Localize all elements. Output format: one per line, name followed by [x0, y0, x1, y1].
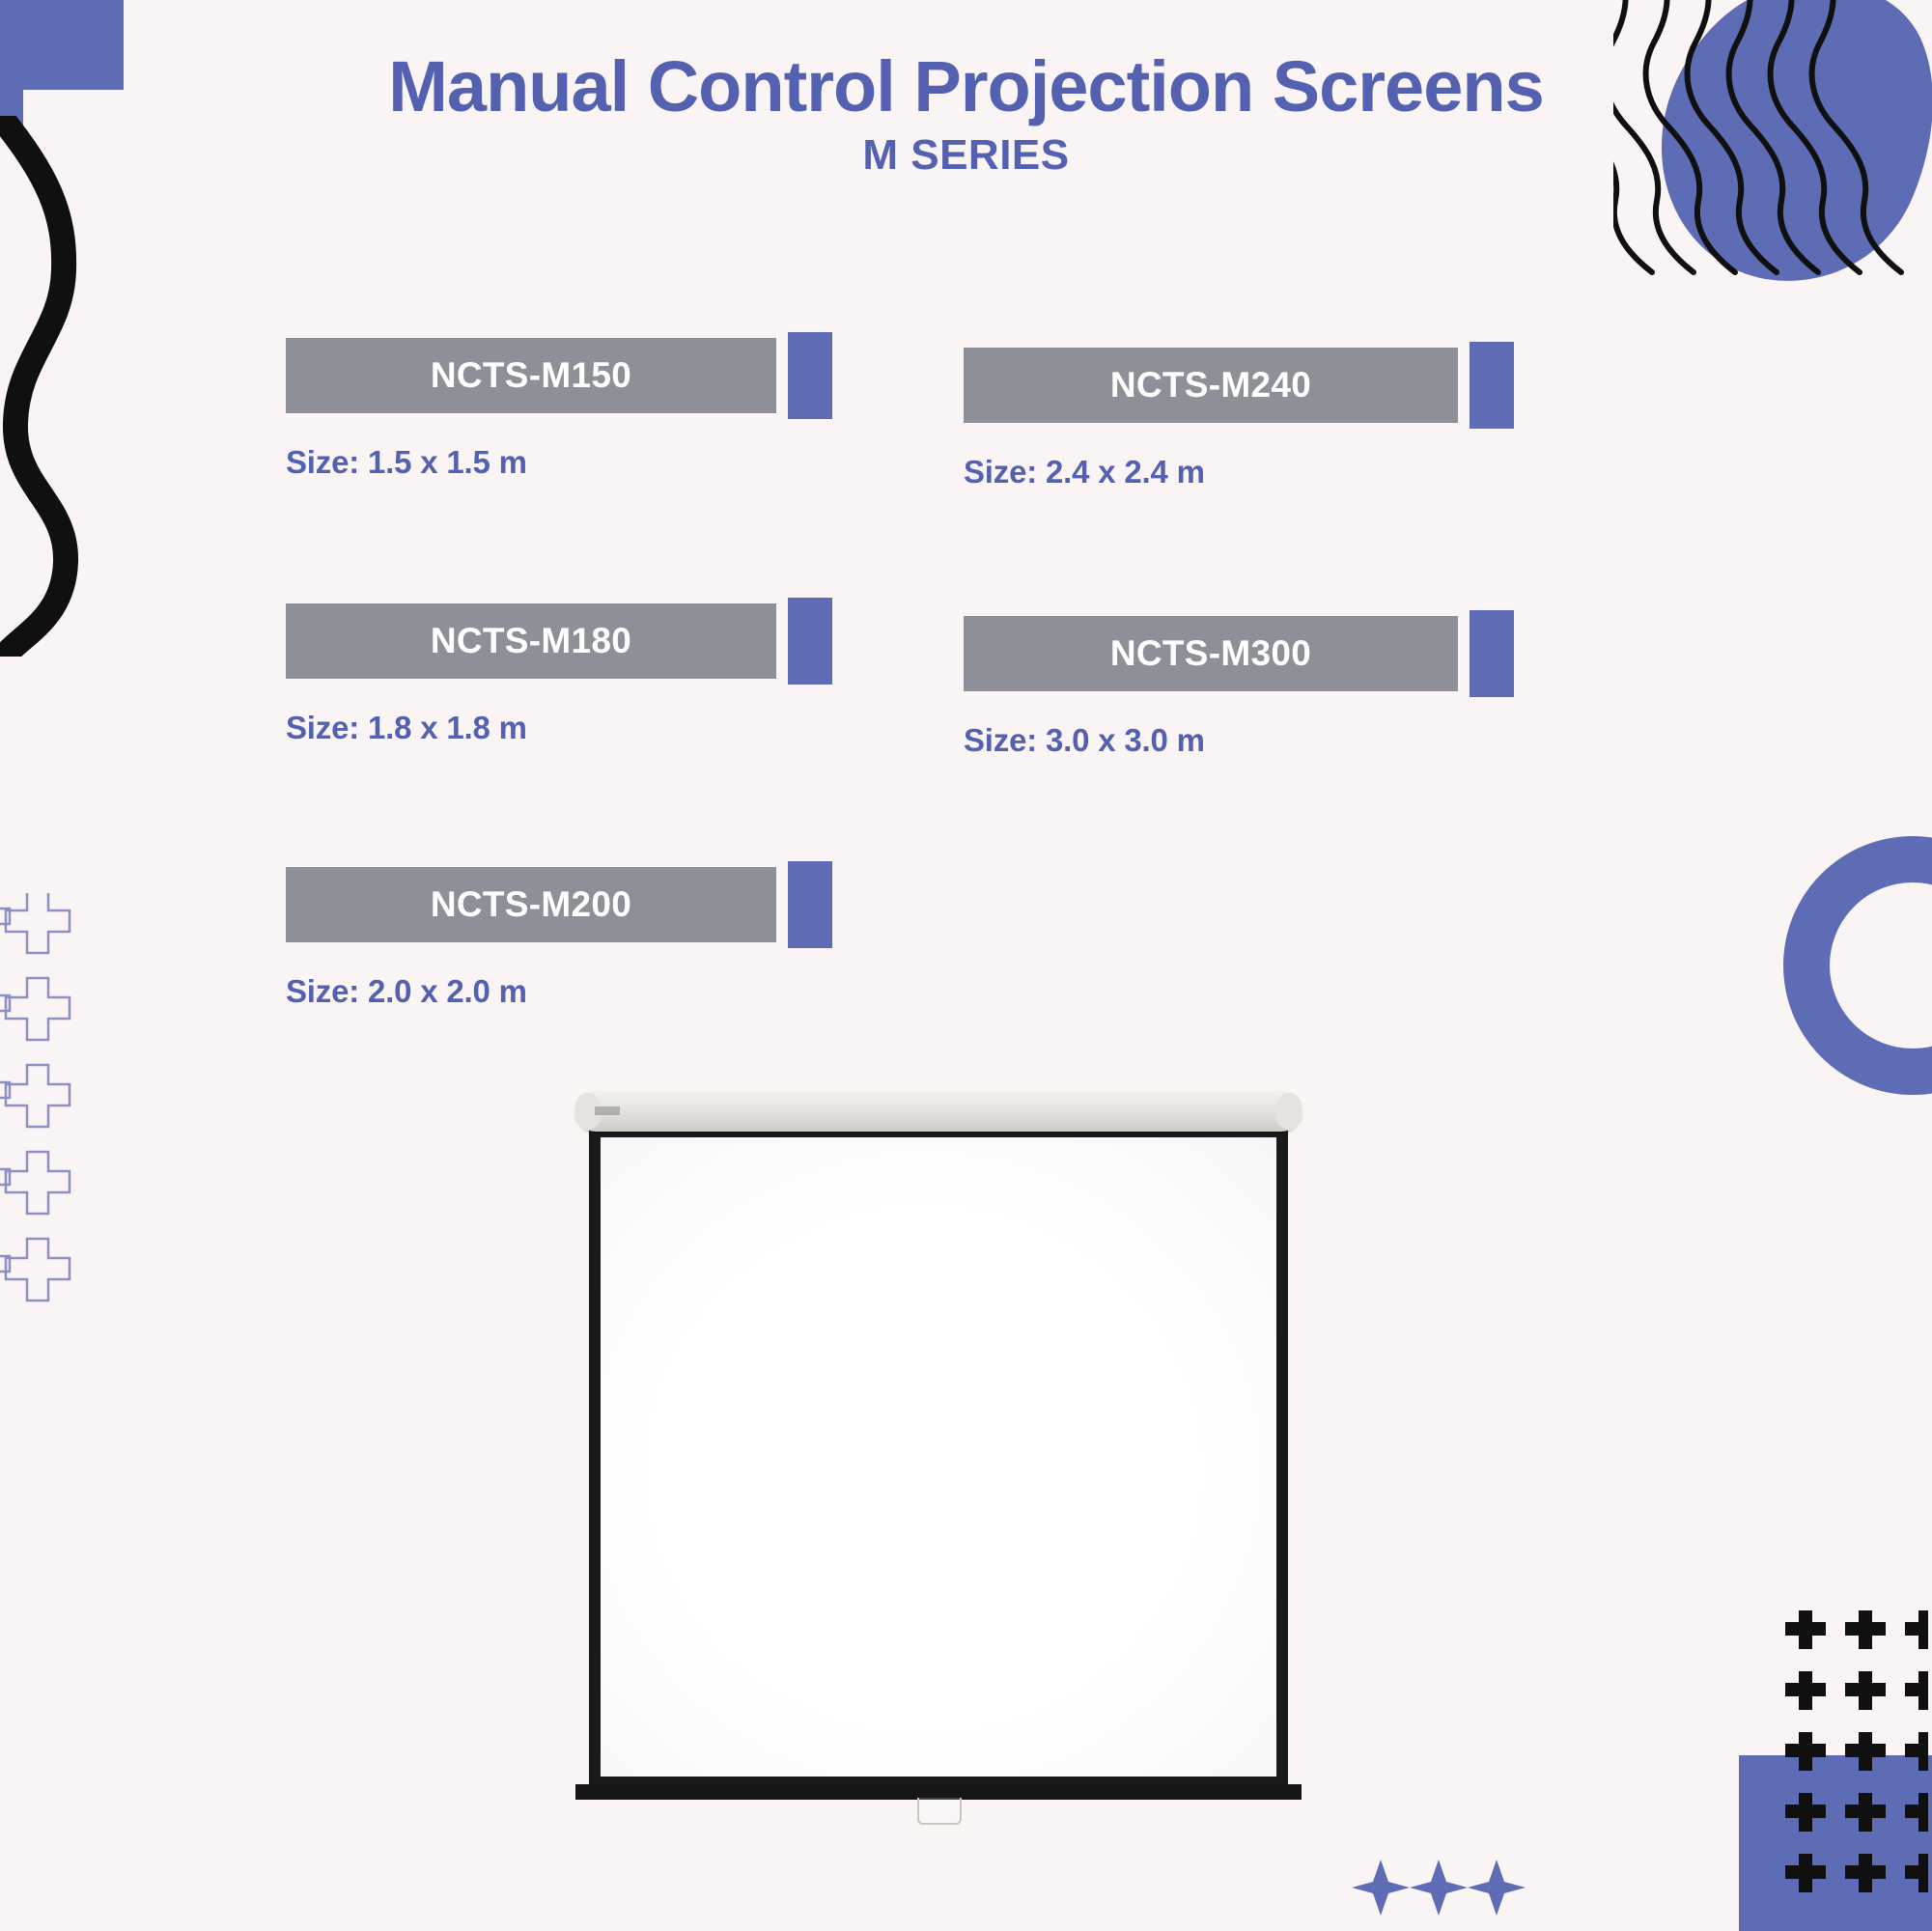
- product-item-ncts-m240[interactable]: NCTS-M240 Size: 2.4 x 2.4 m: [964, 348, 1514, 490]
- screen-surface: [601, 1137, 1276, 1777]
- product-code-label: NCTS-M200: [431, 884, 631, 925]
- product-size-label: Size: 3.0 x 3.0 m: [964, 722, 1514, 759]
- product-code-bar: NCTS-M150: [286, 338, 776, 413]
- product-code-bar: NCTS-M240: [964, 348, 1458, 423]
- product-accent-block: [1470, 610, 1514, 697]
- product-code-label: NCTS-M150: [431, 355, 631, 396]
- product-code-label: NCTS-M300: [1110, 633, 1311, 674]
- screen-casing: [575, 1091, 1302, 1132]
- product-accent-block: [788, 861, 832, 948]
- product-bar-row: NCTS-M240: [964, 348, 1514, 429]
- product-size-label: Size: 2.0 x 2.0 m: [286, 973, 832, 1010]
- product-accent-block: [1470, 342, 1514, 429]
- product-bar-row: NCTS-M300: [964, 616, 1514, 697]
- product-bar-row: NCTS-M150: [286, 338, 832, 419]
- product-accent-block: [788, 598, 832, 685]
- product-code-label: NCTS-M180: [431, 621, 631, 661]
- product-item-ncts-m200[interactable]: NCTS-M200 Size: 2.0 x 2.0 m: [286, 867, 832, 1010]
- product-item-ncts-m180[interactable]: NCTS-M180 Size: 1.8 x 1.8 m: [286, 603, 832, 746]
- screen-casing-endcap-right: [1276, 1093, 1302, 1130]
- product-accent-block: [788, 332, 832, 419]
- product-code-bar: NCTS-M200: [286, 867, 776, 942]
- product-item-ncts-m150[interactable]: NCTS-M150 Size: 1.5 x 1.5 m: [286, 338, 832, 481]
- product-size-label: Size: 1.5 x 1.5 m: [286, 444, 832, 481]
- product-code-label: NCTS-M240: [1110, 365, 1311, 406]
- screen-pull-handle: [917, 1798, 962, 1825]
- product-code-bar: NCTS-M180: [286, 603, 776, 679]
- product-code-bar: NCTS-M300: [964, 616, 1458, 691]
- product-bar-row: NCTS-M200: [286, 867, 832, 948]
- product-size-label: Size: 1.8 x 1.8 m: [286, 710, 832, 746]
- product-size-label: Size: 2.4 x 2.4 m: [964, 454, 1514, 490]
- product-item-ncts-m300[interactable]: NCTS-M300 Size: 3.0 x 3.0 m: [964, 616, 1514, 759]
- projection-screen-image: [568, 1091, 1309, 1844]
- product-bar-row: NCTS-M180: [286, 603, 832, 685]
- screen-casing-label: [595, 1106, 620, 1115]
